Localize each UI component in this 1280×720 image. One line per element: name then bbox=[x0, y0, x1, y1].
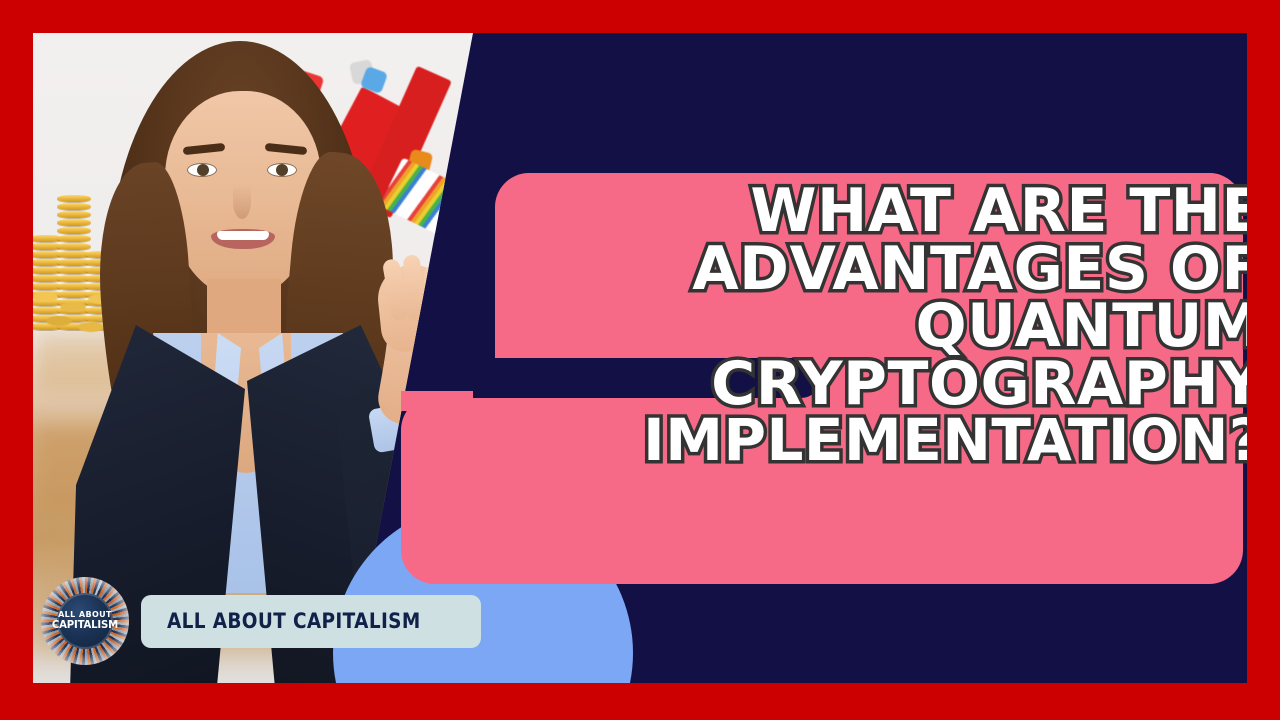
logo-core-disc: ALL ABOUT CAPITALISM bbox=[57, 593, 113, 649]
headline-line-2: ADVANTAGES OF bbox=[503, 241, 1247, 299]
headline-text: WHAT ARE THE ADVANTAGES OF QUANTUM CRYPT… bbox=[503, 183, 1247, 469]
pupil bbox=[197, 164, 209, 176]
channel-logo-icon: ALL ABOUT CAPITALISM bbox=[41, 577, 129, 665]
headline-line-4: CRYPTOGRAPHY bbox=[503, 356, 1247, 414]
thumbnail-canvas: WHAT ARE THE ADVANTAGES OF QUANTUM CRYPT… bbox=[33, 33, 1247, 683]
logo-text-line-2: CAPITALISM bbox=[52, 619, 118, 631]
channel-name-label: ALL ABOUT CAPITALISM bbox=[167, 609, 421, 633]
headline-line-3: QUANTUM bbox=[503, 298, 1247, 356]
headline-line-1: WHAT ARE THE bbox=[503, 183, 1247, 241]
teeth bbox=[217, 231, 269, 240]
finger bbox=[421, 264, 442, 323]
headline-line-5: IMPLEMENTATION? bbox=[503, 413, 1247, 469]
finger bbox=[403, 254, 425, 321]
nose bbox=[233, 185, 251, 219]
brand-row: ALL ABOUT CAPITALISM ALL ABOUT CAPITALIS… bbox=[41, 577, 481, 665]
pupil bbox=[276, 164, 288, 176]
channel-name-pill: ALL ABOUT CAPITALISM bbox=[141, 595, 481, 648]
youtube-thumbnail: WHAT ARE THE ADVANTAGES OF QUANTUM CRYPT… bbox=[0, 0, 1280, 720]
